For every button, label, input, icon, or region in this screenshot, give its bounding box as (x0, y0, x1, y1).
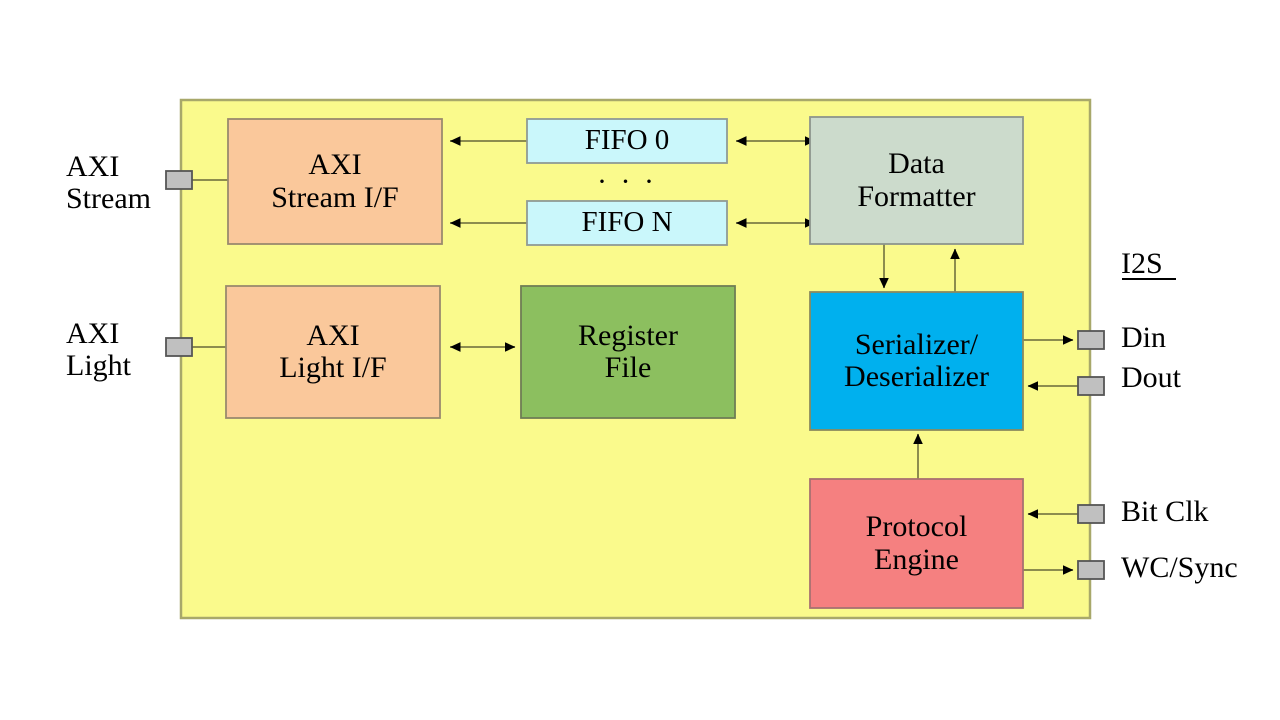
port-label-dout: Dout (1121, 362, 1181, 394)
block-data-formatter[interactable] (810, 117, 1023, 244)
diagram-canvas: AXI Stream I/F AXI Light I/F FIFO 0 · · … (0, 0, 1280, 720)
block-axi-stream-if[interactable] (228, 119, 442, 244)
port-label-din: Din (1121, 322, 1166, 354)
pad-bit-clk[interactable] (1078, 505, 1104, 523)
block-axi-light-if[interactable] (226, 286, 440, 418)
pad-wc-sync[interactable] (1078, 561, 1104, 579)
port-label-bit-clk: Bit Clk (1121, 496, 1209, 528)
block-fifo-0[interactable] (527, 119, 727, 163)
port-label-axi-light: AXI Light (66, 318, 131, 382)
pad-din[interactable] (1078, 331, 1104, 349)
i2s-group-title: I2S (1121, 248, 1163, 280)
pad-axi-light[interactable] (166, 338, 192, 356)
block-protocol-engine[interactable] (810, 479, 1023, 608)
pad-axi-stream[interactable] (166, 171, 192, 189)
port-label-axi-stream: AXI Stream (66, 151, 151, 215)
block-serdes[interactable] (810, 292, 1023, 430)
pad-dout[interactable] (1078, 377, 1104, 395)
block-diagram-svg (0, 0, 1280, 720)
block-fifo-n[interactable] (527, 201, 727, 245)
block-register-file[interactable] (521, 286, 735, 418)
port-label-wc-sync: WC/Sync (1121, 552, 1238, 584)
